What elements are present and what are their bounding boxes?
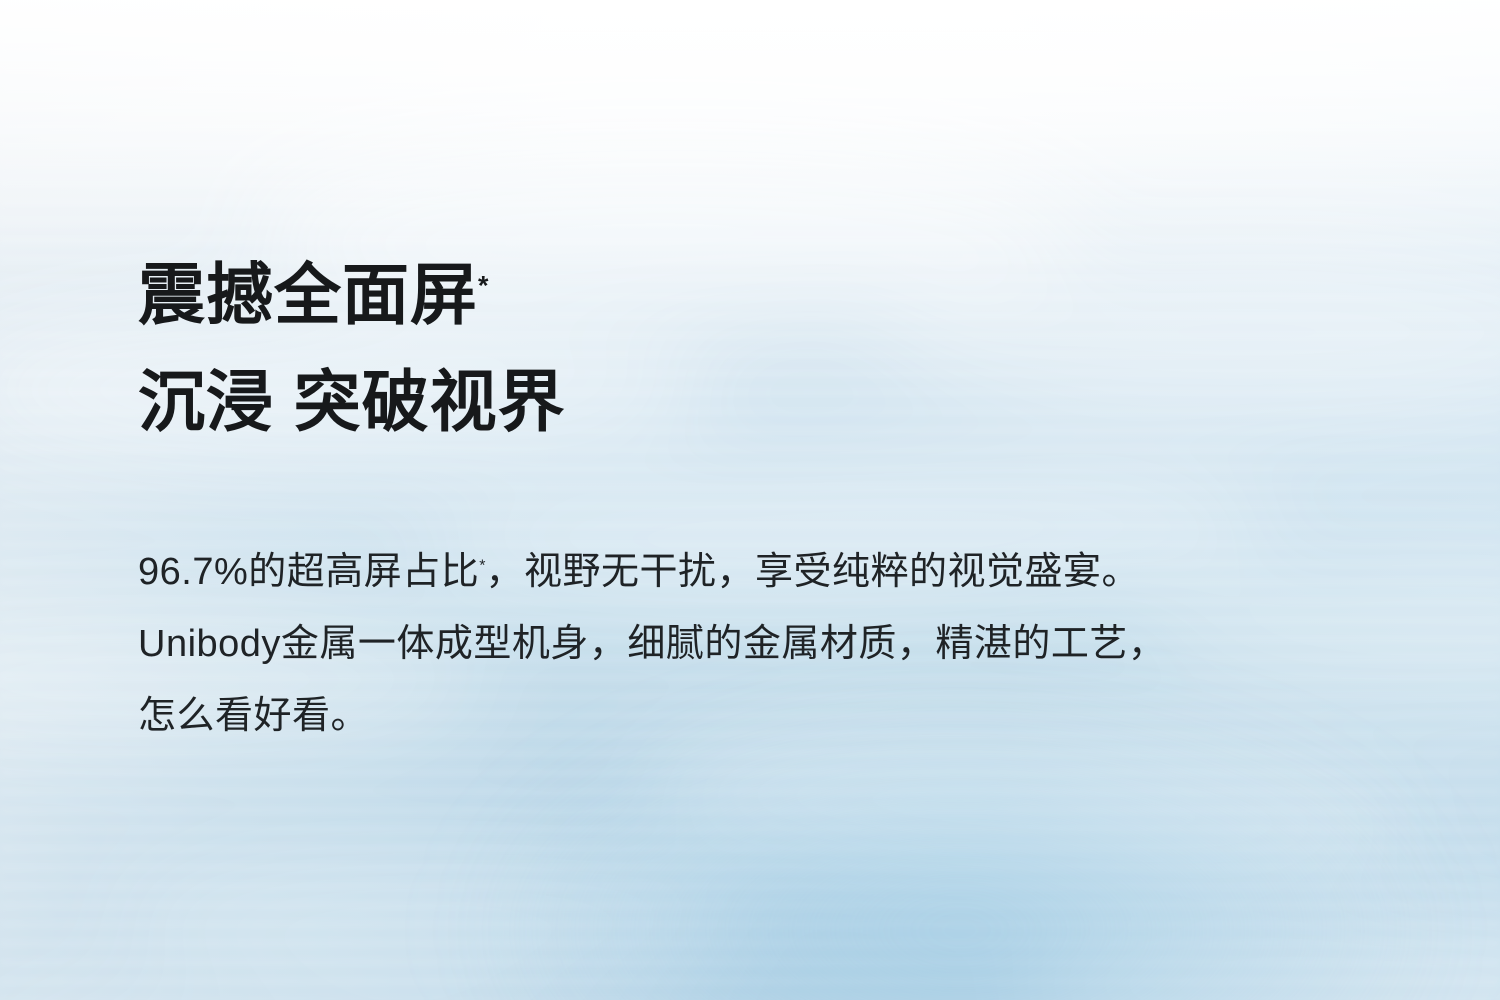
promo-banner: 震撼全面屏* 沉浸 突破视界 96.7%的超高屏占比*，视野无干扰，享受纯粹的视… (0, 0, 1500, 1000)
sky-top-white-veil (0, 0, 1500, 280)
headline-line-2: 沉浸 突破视界 (138, 369, 1428, 436)
headline: 震撼全面屏* 沉浸 突破视界 (138, 262, 1428, 436)
body-line-1: 96.7%的超高屏占比*，视野无干扰，享受纯粹的视觉盛宴。 (138, 536, 1428, 608)
headline-line-1: 震撼全面屏* (138, 262, 1428, 329)
headline-line-1-text: 震撼全面屏 (138, 258, 478, 333)
body-line-1-prefix: 96.7%的超高屏占比 (138, 551, 479, 593)
body-copy: 96.7%的超高屏占比*，视野无干扰，享受纯粹的视觉盛宴。 Unibody金属一… (138, 536, 1428, 752)
body-line-2: Unibody金属一体成型机身，细腻的金属材质，精湛的工艺， (138, 608, 1428, 680)
body-line-3: 怎么看好看。 (138, 680, 1428, 752)
body-line-1-suffix: ，视野无干扰，享受纯粹的视觉盛宴。 (485, 551, 1140, 593)
headline-asterisk-marker: * (478, 271, 488, 301)
text-content-block: 震撼全面屏* 沉浸 突破视界 96.7%的超高屏占比*，视野无干扰，享受纯粹的视… (138, 262, 1428, 752)
